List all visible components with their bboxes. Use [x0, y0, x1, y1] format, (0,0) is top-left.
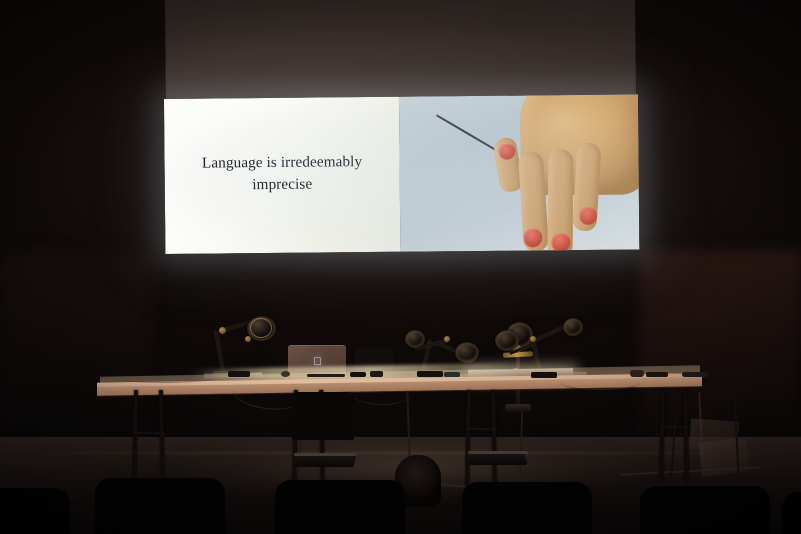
cable-loop-4	[116, 374, 212, 383]
cable-loop-2	[350, 378, 414, 405]
slide-title-line-1: Language is irredeemably	[202, 153, 362, 172]
lamp-joint-lower	[219, 327, 226, 334]
lamp-head-secondary	[495, 330, 519, 351]
wall-glow-left	[0, 255, 150, 455]
chair-under-table	[292, 392, 354, 440]
audience-chair-2	[95, 478, 225, 534]
audience-chair-1	[0, 488, 70, 534]
desk-device-8	[630, 370, 644, 377]
desk-device-9	[646, 372, 668, 377]
desk-device-2	[281, 371, 290, 377]
slide-text-pane: Language is irredeemably imprecise	[164, 97, 400, 254]
lamp-head-secondary	[455, 342, 479, 363]
projector-letterbox-band	[165, 0, 636, 100]
desk-device-6	[444, 372, 460, 377]
audience-chair-6	[782, 492, 801, 534]
desk-device-1	[228, 371, 250, 377]
stage-monitor-right	[467, 453, 528, 465]
desk-device-4	[370, 371, 383, 377]
desk-device-5	[417, 371, 443, 377]
lamp-head	[405, 330, 425, 348]
floor-edge-line	[0, 452, 801, 454]
stage-monitor-left	[294, 455, 357, 467]
stand-base	[505, 404, 531, 412]
slide-title: Language is irredeemably imprecise	[188, 151, 377, 195]
projected-slide: Language is irredeemably imprecise	[164, 94, 639, 254]
slide-title-line-2: imprecise	[252, 175, 312, 193]
audience-chair-3	[275, 480, 405, 534]
desk-cable-tray	[307, 374, 345, 377]
lamp-head	[563, 318, 583, 336]
stage-monitor-right-top	[468, 451, 529, 454]
middle-nail	[551, 233, 570, 252]
lamp-joint	[444, 336, 450, 342]
audience-chair-4	[462, 482, 592, 534]
slide-photo-pane	[399, 94, 639, 251]
hand-photograph	[484, 94, 639, 251]
lamp-joint	[530, 336, 536, 342]
stage-monitor-left-top	[294, 453, 357, 456]
cable-loop-3	[560, 375, 640, 390]
lamp-head-rim	[250, 318, 272, 338]
audience-chair-5	[640, 486, 770, 534]
screenshot-root: Language is irredeemably imprecise	[0, 0, 801, 534]
hand-knuckles	[528, 94, 640, 127]
audio-interface	[682, 372, 708, 377]
desk-device-7	[531, 372, 557, 378]
leaning-panel-right	[698, 437, 750, 477]
desk-device-3	[350, 372, 366, 377]
projection-screen: Language is irredeemably imprecise	[163, 0, 639, 256]
lamp-joint-upper	[245, 336, 251, 342]
